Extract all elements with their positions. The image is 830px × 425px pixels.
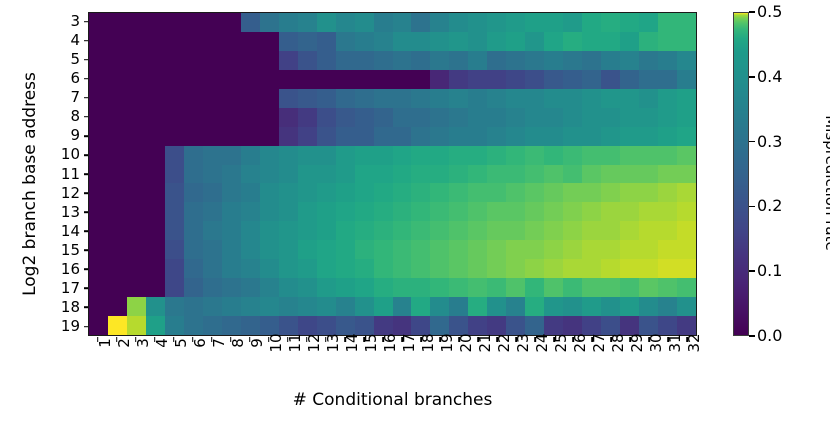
- heatmap-cell: [165, 51, 184, 70]
- heatmap-cell: [127, 221, 146, 240]
- heatmap-cell: [487, 146, 506, 165]
- heatmap-cell: [165, 316, 184, 335]
- heatmap-cell: [393, 146, 412, 165]
- heatmap-cell: [411, 89, 430, 108]
- heatmap-cell: [127, 146, 146, 165]
- heatmap-cell: [336, 278, 355, 297]
- heatmap-cell: [525, 89, 544, 108]
- heatmap-cell: [165, 70, 184, 89]
- colorbar-tick-label: 0.1: [757, 263, 782, 279]
- heatmap-cell: [601, 51, 620, 70]
- heatmap-cell: [677, 146, 696, 165]
- heatmap-figure: Log2 branch base address 345678910111213…: [0, 0, 830, 425]
- heatmap-cell: [411, 240, 430, 259]
- heatmap-cell: [184, 165, 203, 184]
- heatmap-cell: [203, 183, 222, 202]
- heatmap-cell: [620, 108, 639, 127]
- heatmap-cell: [108, 32, 127, 51]
- heatmap-cell: [525, 259, 544, 278]
- heatmap-cell: [298, 165, 317, 184]
- heatmap-cell: [89, 108, 108, 127]
- heatmap-cell: [487, 32, 506, 51]
- colorbar-tick-mark: [749, 141, 755, 143]
- heatmap-cell: [563, 89, 582, 108]
- x-tick-label: 24: [526, 343, 545, 383]
- heatmap-cell: [506, 89, 525, 108]
- heatmap-cell: [374, 202, 393, 221]
- heatmap-cell: [563, 278, 582, 297]
- heatmap-cell: [658, 183, 677, 202]
- y-tick-label: 9: [40, 126, 82, 145]
- heatmap-cell: [468, 70, 487, 89]
- heatmap-cell: [411, 51, 430, 70]
- heatmap-cell: [108, 108, 127, 127]
- heatmap-cell: [89, 202, 108, 221]
- heatmap-cell: [89, 221, 108, 240]
- heatmap-cell: [165, 89, 184, 108]
- y-tick-label: 5: [40, 50, 82, 69]
- heatmap-cell: [184, 259, 203, 278]
- heatmap-cell: [260, 259, 279, 278]
- heatmap-cell: [411, 316, 430, 335]
- heatmap-cell: [430, 127, 449, 146]
- heatmap-cell: [677, 240, 696, 259]
- heatmap-cell: [563, 297, 582, 316]
- heatmap-cell: [393, 70, 412, 89]
- x-tick-label: 27: [583, 343, 602, 383]
- heatmap-cell: [411, 32, 430, 51]
- heatmap-cell: [639, 127, 658, 146]
- heatmap-cell: [430, 221, 449, 240]
- heatmap-cell: [260, 183, 279, 202]
- heatmap-cell: [468, 316, 487, 335]
- x-tick-label: 11: [278, 343, 297, 383]
- heatmap-cell: [601, 183, 620, 202]
- heatmap-cell: [374, 165, 393, 184]
- x-tick-label: 4: [145, 343, 164, 383]
- heatmap-cell: [468, 240, 487, 259]
- heatmap-cell: [506, 108, 525, 127]
- y-tick-label: 19: [40, 317, 82, 336]
- heatmap-cell: [468, 146, 487, 165]
- heatmap-cell: [222, 108, 241, 127]
- heatmap-cell: [298, 108, 317, 127]
- heatmap-cell: [582, 202, 601, 221]
- heatmap-cell: [146, 51, 165, 70]
- colorbar-tick-label: 0.3: [757, 134, 782, 150]
- heatmap-cell: [317, 51, 336, 70]
- heatmap-cell: [658, 127, 677, 146]
- heatmap-cell: [260, 146, 279, 165]
- heatmap-cell: [184, 316, 203, 335]
- heatmap-cell: [677, 259, 696, 278]
- heatmap-cell: [393, 202, 412, 221]
- heatmap-cell: [639, 259, 658, 278]
- heatmap-cell: [241, 297, 260, 316]
- heatmap-cell: [222, 127, 241, 146]
- heatmap-cell: [298, 278, 317, 297]
- heatmap-cell: [393, 127, 412, 146]
- heatmap-cell: [298, 89, 317, 108]
- heatmap-cell: [203, 89, 222, 108]
- heatmap-cell: [203, 240, 222, 259]
- heatmap-cell: [222, 259, 241, 278]
- heatmap-cell: [563, 202, 582, 221]
- heatmap-cell: [146, 108, 165, 127]
- heatmap-cell: [146, 70, 165, 89]
- heatmap-cell: [601, 89, 620, 108]
- y-tick-label: 11: [40, 165, 82, 184]
- heatmap-cell: [355, 259, 374, 278]
- heatmap-cell: [639, 240, 658, 259]
- heatmap-cell: [374, 32, 393, 51]
- heatmap-cell: [108, 127, 127, 146]
- heatmap-cell: [317, 32, 336, 51]
- x-tick-label: 13: [316, 343, 335, 383]
- heatmap-cell: [487, 221, 506, 240]
- heatmap-cell: [279, 146, 298, 165]
- heatmap-cell: [222, 240, 241, 259]
- x-tick-label: 25: [545, 343, 564, 383]
- heatmap-cell: [127, 278, 146, 297]
- heatmap-cell: [544, 51, 563, 70]
- heatmap-cell: [393, 259, 412, 278]
- heatmap-cell: [89, 240, 108, 259]
- heatmap-cell: [336, 108, 355, 127]
- heatmap-cell: [677, 70, 696, 89]
- heatmap-cell: [260, 297, 279, 316]
- heatmap-cell: [468, 108, 487, 127]
- heatmap-cell: [393, 278, 412, 297]
- heatmap-cell: [165, 127, 184, 146]
- heatmap-cell: [241, 146, 260, 165]
- heatmap-cell: [374, 127, 393, 146]
- heatmap-cell: [601, 32, 620, 51]
- heatmap-cell: [317, 202, 336, 221]
- heatmap-cell: [506, 183, 525, 202]
- heatmap-cell: [165, 32, 184, 51]
- heatmap-cell: [222, 278, 241, 297]
- heatmap-cell: [677, 202, 696, 221]
- heatmap-cell: [506, 165, 525, 184]
- heatmap-cell: [336, 316, 355, 335]
- heatmap-cell: [563, 70, 582, 89]
- heatmap-cell: [355, 108, 374, 127]
- heatmap-cell: [620, 316, 639, 335]
- heatmap-cell: [449, 221, 468, 240]
- heatmap-cell: [260, 202, 279, 221]
- heatmap-cell: [393, 297, 412, 316]
- heatmap-cell: [279, 278, 298, 297]
- heatmap-cell: [184, 89, 203, 108]
- heatmap-cell: [203, 316, 222, 335]
- heatmap-cell: [430, 70, 449, 89]
- heatmap-cell: [449, 89, 468, 108]
- heatmap-cell: [203, 70, 222, 89]
- heatmap-cell: [127, 202, 146, 221]
- heatmap-cell: [184, 183, 203, 202]
- heatmap-cell: [582, 108, 601, 127]
- heatmap-cell: [525, 127, 544, 146]
- heatmap-cell: [165, 278, 184, 297]
- heatmap-cell: [108, 316, 127, 335]
- heatmap-cell: [487, 127, 506, 146]
- heatmap-cell: [430, 89, 449, 108]
- colorbar-tick-label: 0.4: [757, 69, 782, 85]
- heatmap-cell: [146, 146, 165, 165]
- heatmap-cell: [468, 13, 487, 32]
- heatmap-cell: [411, 70, 430, 89]
- heatmap-cell: [336, 165, 355, 184]
- heatmap-cell: [203, 259, 222, 278]
- heatmap-cell: [658, 202, 677, 221]
- heatmap-cell: [544, 259, 563, 278]
- heatmap-cell: [184, 108, 203, 127]
- heatmap-cell: [658, 70, 677, 89]
- heatmap-cell: [279, 316, 298, 335]
- heatmap-cell: [336, 183, 355, 202]
- heatmap-cell: [146, 240, 165, 259]
- y-tick-label: 12: [40, 184, 82, 203]
- heatmap-cell: [279, 13, 298, 32]
- x-axis-title: # Conditional branches: [88, 390, 697, 410]
- heatmap-cell: [411, 165, 430, 184]
- heatmap-cell: [241, 108, 260, 127]
- heatmap-cell: [146, 278, 165, 297]
- heatmap-cell: [165, 165, 184, 184]
- heatmap-cell: [487, 202, 506, 221]
- heatmap-cell: [677, 297, 696, 316]
- heatmap-cell: [279, 108, 298, 127]
- heatmap-cell: [563, 108, 582, 127]
- heatmap-cell: [658, 108, 677, 127]
- colorbar-tick-label: 0.0: [757, 328, 782, 344]
- heatmap-cell: [165, 183, 184, 202]
- y-tick-label: 8: [40, 107, 82, 126]
- heatmap-cell: [449, 240, 468, 259]
- heatmap-cell: [393, 108, 412, 127]
- heatmap-cell: [449, 278, 468, 297]
- heatmap-cell: [677, 165, 696, 184]
- heatmap-cell: [336, 13, 355, 32]
- heatmap-cell: [544, 297, 563, 316]
- heatmap-cell: [411, 202, 430, 221]
- heatmap-cell: [317, 89, 336, 108]
- heatmap-cell: [298, 240, 317, 259]
- heatmap-cell: [639, 165, 658, 184]
- heatmap-cell: [222, 51, 241, 70]
- heatmap-cell: [108, 297, 127, 316]
- heatmap-cell: [317, 127, 336, 146]
- heatmap-cell: [127, 70, 146, 89]
- heatmap-cell: [430, 146, 449, 165]
- heatmap-cell: [355, 316, 374, 335]
- heatmap-cell: [108, 70, 127, 89]
- heatmap-cell: [374, 297, 393, 316]
- heatmap-cell: [127, 13, 146, 32]
- heatmap-cell: [582, 127, 601, 146]
- heatmap-cell: [260, 165, 279, 184]
- x-tick-label: 18: [412, 343, 431, 383]
- heatmap-cell: [374, 70, 393, 89]
- heatmap-cell: [241, 221, 260, 240]
- heatmap-cell: [525, 202, 544, 221]
- heatmap-cell: [336, 297, 355, 316]
- heatmap-cell: [203, 221, 222, 240]
- heatmap-cell: [582, 240, 601, 259]
- heatmap-cell: [639, 146, 658, 165]
- heatmap-cell: [563, 183, 582, 202]
- heatmap-cell: [279, 32, 298, 51]
- y-tick-label: 3: [40, 12, 82, 31]
- heatmap-cell: [298, 70, 317, 89]
- heatmap-cell: [222, 32, 241, 51]
- heatmap-cell: [449, 70, 468, 89]
- heatmap-cell: [298, 13, 317, 32]
- heatmap-cell: [468, 297, 487, 316]
- heatmap-cell: [658, 13, 677, 32]
- heatmap-cell: [468, 202, 487, 221]
- heatmap-cell: [279, 259, 298, 278]
- x-tick-label: 15: [354, 343, 373, 383]
- heatmap-cell: [411, 146, 430, 165]
- heatmap-cell: [506, 240, 525, 259]
- x-tick-label: 29: [621, 343, 640, 383]
- heatmap-cell: [298, 146, 317, 165]
- heatmap-cell: [127, 51, 146, 70]
- colorbar-tick-marks: [749, 12, 756, 336]
- heatmap-cell: [677, 13, 696, 32]
- x-tick-label: 8: [221, 343, 240, 383]
- x-tick-label: 14: [335, 343, 354, 383]
- heatmap-cell: [203, 51, 222, 70]
- heatmap-cell: [336, 70, 355, 89]
- heatmap-cell: [127, 297, 146, 316]
- heatmap-cell: [658, 89, 677, 108]
- heatmap-cell: [317, 297, 336, 316]
- y-tick-label: 7: [40, 88, 82, 107]
- colorbar-tick-labels: 0.00.10.20.30.40.5: [757, 12, 797, 336]
- heatmap-cell: [677, 221, 696, 240]
- heatmap-cell: [260, 51, 279, 70]
- heatmap-cell: [203, 108, 222, 127]
- heatmap-cell: [544, 89, 563, 108]
- heatmap-cell: [411, 297, 430, 316]
- heatmap-cell: [411, 221, 430, 240]
- heatmap-cell: [374, 183, 393, 202]
- heatmap-cell: [544, 146, 563, 165]
- heatmap-plot-area[interactable]: [88, 12, 697, 336]
- heatmap-cell: [89, 127, 108, 146]
- heatmap-cell: [430, 13, 449, 32]
- heatmap-cell: [260, 127, 279, 146]
- heatmap-cell: [222, 70, 241, 89]
- heatmap-cell: [620, 202, 639, 221]
- heatmap-cell: [468, 259, 487, 278]
- heatmap-cell: [563, 259, 582, 278]
- heatmap-cell: [620, 146, 639, 165]
- heatmap-cell: [355, 70, 374, 89]
- heatmap-cell: [108, 278, 127, 297]
- heatmap-cell: [374, 146, 393, 165]
- heatmap-cell: [146, 316, 165, 335]
- heatmap-cell: [639, 13, 658, 32]
- heatmap-cell: [449, 165, 468, 184]
- heatmap-cell: [582, 278, 601, 297]
- heatmap-cell: [544, 183, 563, 202]
- heatmap-cell: [563, 221, 582, 240]
- colorbar-tick-mark: [749, 11, 755, 13]
- heatmap-cell: [525, 108, 544, 127]
- heatmap-cell: [260, 108, 279, 127]
- heatmap-cell: [468, 183, 487, 202]
- heatmap-cell: [146, 13, 165, 32]
- heatmap-cell: [487, 278, 506, 297]
- heatmap-cell: [639, 108, 658, 127]
- heatmap-cell: [222, 89, 241, 108]
- heatmap-cell: [544, 70, 563, 89]
- heatmap-cell: [165, 240, 184, 259]
- x-tick-label: 22: [488, 343, 507, 383]
- heatmap-cell: [374, 89, 393, 108]
- heatmap-cell: [108, 165, 127, 184]
- heatmap-cell: [468, 32, 487, 51]
- heatmap-cell: [658, 221, 677, 240]
- heatmap-cell: [374, 240, 393, 259]
- heatmap-cell: [525, 297, 544, 316]
- heatmap-cell: [222, 146, 241, 165]
- heatmap-cell: [506, 51, 525, 70]
- heatmap-cell: [241, 32, 260, 51]
- x-tick-label: 26: [564, 343, 583, 383]
- heatmap-cell: [430, 316, 449, 335]
- heatmap-cell: [525, 221, 544, 240]
- heatmap-cell: [449, 202, 468, 221]
- heatmap-cell: [601, 297, 620, 316]
- heatmap-cell: [298, 259, 317, 278]
- heatmap-cell: [355, 165, 374, 184]
- heatmap-cell: [411, 259, 430, 278]
- heatmap-cell: [393, 32, 412, 51]
- heatmap-cell: [601, 221, 620, 240]
- heatmap-cell: [677, 183, 696, 202]
- heatmap-cell: [355, 89, 374, 108]
- heatmap-cell: [563, 32, 582, 51]
- heatmap-cell: [279, 297, 298, 316]
- heatmap-cell: [582, 297, 601, 316]
- heatmap-cell: [601, 165, 620, 184]
- heatmap-cell: [449, 316, 468, 335]
- heatmap-cell: [468, 221, 487, 240]
- heatmap-cell: [241, 278, 260, 297]
- y-tick-label: 13: [40, 203, 82, 222]
- heatmap-cell: [127, 316, 146, 335]
- heatmap-cell: [203, 297, 222, 316]
- heatmap-cell: [468, 278, 487, 297]
- y-axis-title: Log2 branch base address: [20, 14, 40, 354]
- heatmap-cell: [108, 240, 127, 259]
- heatmap-cell: [298, 221, 317, 240]
- heatmap-cell: [506, 13, 525, 32]
- heatmap-cell: [393, 165, 412, 184]
- heatmap-cell: [430, 278, 449, 297]
- heatmap-cell: [203, 13, 222, 32]
- heatmap-cell: [639, 70, 658, 89]
- heatmap-cell: [298, 32, 317, 51]
- colorbar-tick-mark: [749, 76, 755, 78]
- heatmap-cell: [241, 70, 260, 89]
- heatmap-cell: [222, 202, 241, 221]
